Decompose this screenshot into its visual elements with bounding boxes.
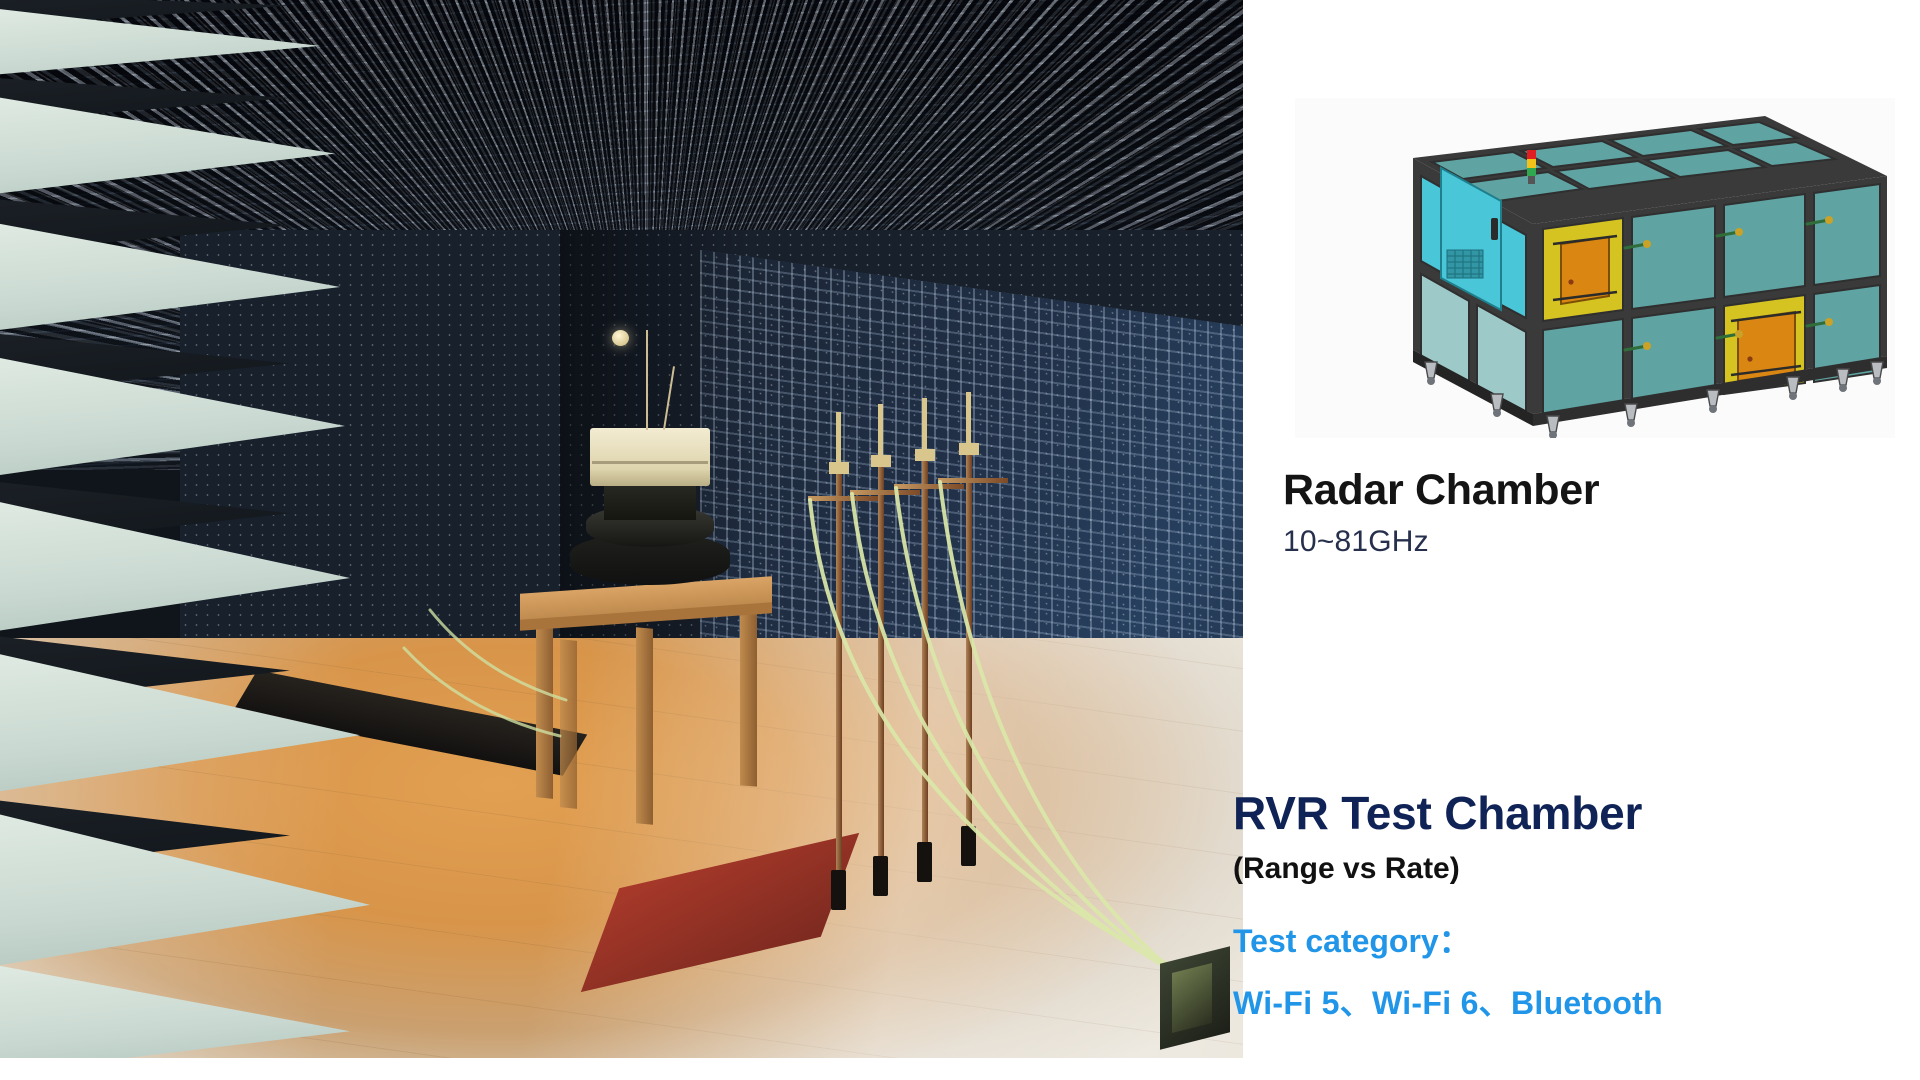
- photo-bottom-margin: [0, 1058, 1243, 1080]
- table-leg: [636, 627, 653, 824]
- antenna-mast-arm: [938, 478, 1008, 483]
- radar-chamber-cad-render: [1295, 98, 1895, 438]
- antenna-mast-arm: [808, 496, 878, 501]
- antenna-mast-arm: [850, 490, 920, 495]
- device-under-test: [590, 428, 710, 486]
- antenna-mast: [922, 456, 928, 854]
- test-category-values: Wi-Fi 5、Wi-Fi 6、Bluetooth: [1233, 978, 1920, 1024]
- rvr-chamber-title: RVR Test Chamber: [1233, 786, 1920, 840]
- antenna-mast-foot: [917, 842, 932, 882]
- antenna-mast-foot: [831, 870, 846, 910]
- rvr-chamber-subtitle: (Range vs Rate): [1233, 852, 1920, 886]
- bulkhead-connector-face: [1172, 963, 1212, 1033]
- foreground-wedge-absorber: [0, 0, 330, 1058]
- radar-chamber-title: Radar Chamber: [1283, 466, 1903, 515]
- antenna-mast-foot: [873, 856, 888, 896]
- antenna-mast-clamp: [829, 462, 849, 474]
- table-leg: [536, 611, 553, 799]
- device-under-test-seam: [592, 461, 708, 464]
- antenna-mast: [878, 462, 884, 870]
- antenna-mast-foot: [961, 826, 976, 866]
- stack-light-icon: [1527, 150, 1536, 184]
- anechoic-chamber-photo: [0, 0, 1243, 1058]
- ceiling-light: [612, 330, 629, 346]
- test-category-label: Test category：: [1233, 916, 1920, 962]
- antenna-mast-clamp: [871, 455, 891, 467]
- table-leg: [560, 639, 577, 809]
- radar-chamber-cad-frame: [1295, 98, 1895, 438]
- radar-chamber-frequency: 10~81GHz: [1283, 525, 1903, 559]
- antenna-mast: [966, 450, 972, 836]
- dut-antenna-whip: [646, 330, 648, 430]
- antenna-mast-clamp: [959, 443, 979, 455]
- slide-root: Radar Chamber 10~81GHz RVR Test Chamber …: [0, 0, 1920, 1080]
- antenna-mast-clamp: [915, 449, 935, 461]
- antenna-mast-arm: [894, 484, 964, 489]
- antenna-mast: [836, 468, 842, 886]
- table-leg: [740, 607, 757, 786]
- right-info-panel: Radar Chamber 10~81GHz RVR Test Chamber …: [1243, 0, 1920, 1080]
